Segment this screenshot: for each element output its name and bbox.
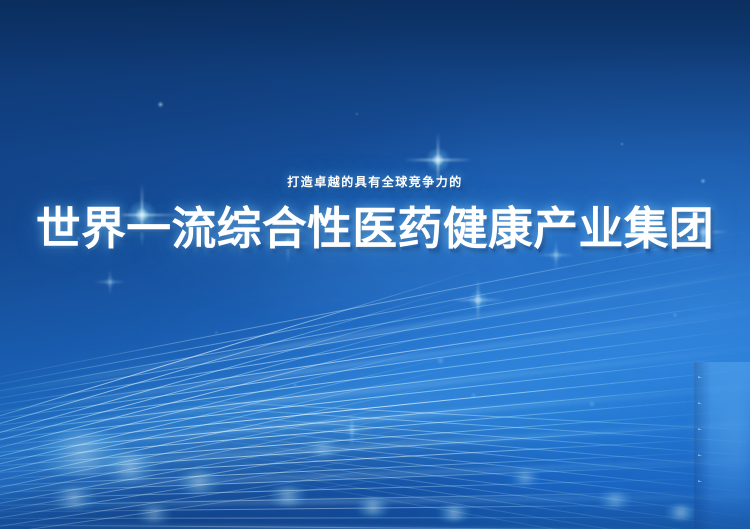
bokeh-sparkle [157, 101, 164, 108]
bokeh-sparkle [355, 112, 359, 116]
bokeh-sparkle [470, 392, 477, 399]
streak-bloom [44, 487, 104, 509]
streak-bloom [432, 505, 476, 521]
streak-bloom [95, 452, 165, 482]
streak-bloom [350, 498, 396, 516]
streak-bloom [130, 505, 178, 523]
lens-flare [344, 422, 360, 438]
headline-block: 打造卓越的具有全球竞争力的 世界一流综合性医药健康产业集团 [0, 176, 750, 252]
streak-bloom [505, 470, 545, 485]
headline-line-2: 世界一流综合性医药健康产业集团 [0, 207, 750, 252]
streak-bloom [262, 486, 314, 506]
vision-banner: 打造卓越的具有全球竞争力的 世界一流综合性医药健康产业集团 [0, 0, 750, 529]
headline-line-1: 打造卓越的具有全球竞争力的 [0, 176, 750, 188]
building-silhouette-icon [694, 362, 750, 529]
bokeh-sparkle [292, 382, 298, 388]
bokeh-sparkle [588, 400, 596, 408]
bokeh-sparkle [620, 142, 624, 146]
streak-bloom [300, 440, 346, 458]
bokeh-sparkle [436, 356, 445, 365]
streak-bloom [170, 470, 228, 494]
